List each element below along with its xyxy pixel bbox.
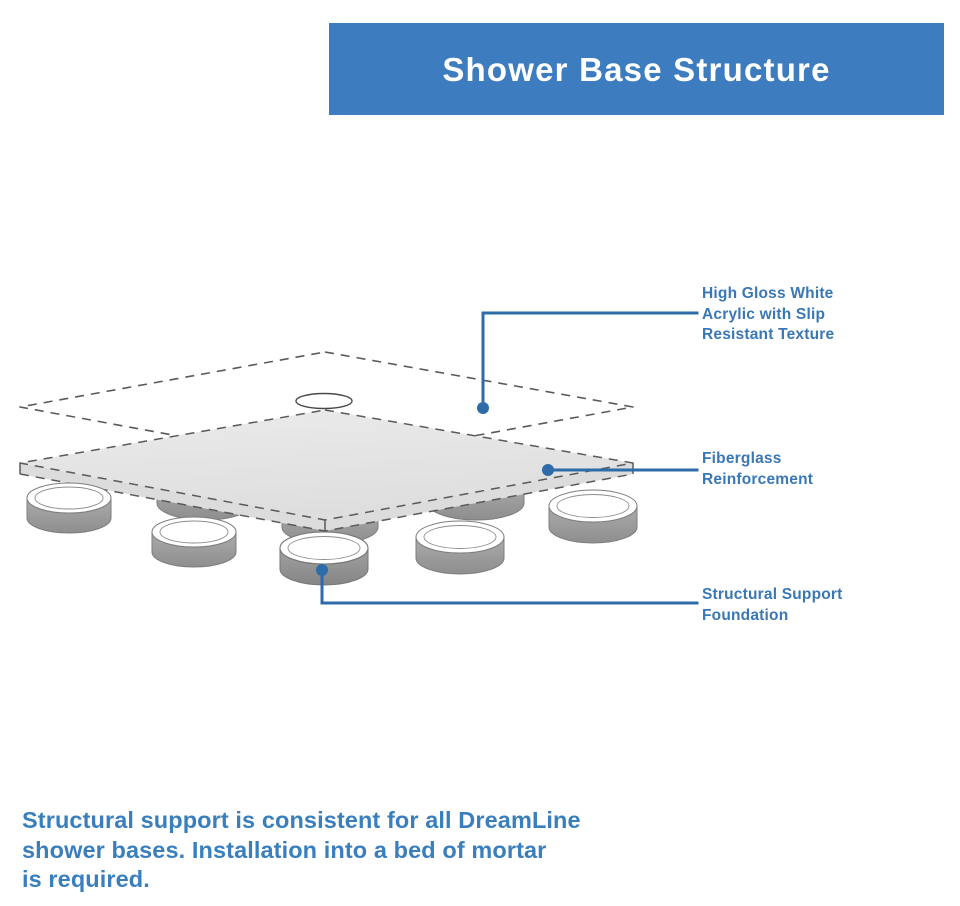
- support-ring-left: [27, 483, 111, 533]
- leader-dot-fiberglass: [542, 464, 554, 476]
- leader-dot-support: [316, 564, 328, 576]
- footer-caption: Structural support is consistent for all…: [22, 806, 642, 895]
- leader-dot-acrylic: [477, 402, 489, 414]
- leader-line-support: [316, 564, 697, 603]
- diagram-page: Shower Base Structure: [0, 0, 960, 906]
- support-ring-mid-right: [416, 521, 504, 574]
- support-ring-mid-left: [152, 517, 236, 567]
- callout-label-fiberglass: Fiberglass Reinforcement: [702, 449, 942, 490]
- support-ring-front: [280, 532, 368, 585]
- callout-label-acrylic: High Gloss White Acrylic with Slip Resis…: [702, 284, 942, 346]
- drain-opening-icon: [296, 394, 352, 409]
- leader-line-acrylic: [477, 313, 697, 414]
- support-ring-right: [549, 490, 637, 543]
- callout-label-support: Structural Support Foundation: [702, 585, 942, 626]
- fiberglass-slab: [20, 410, 633, 531]
